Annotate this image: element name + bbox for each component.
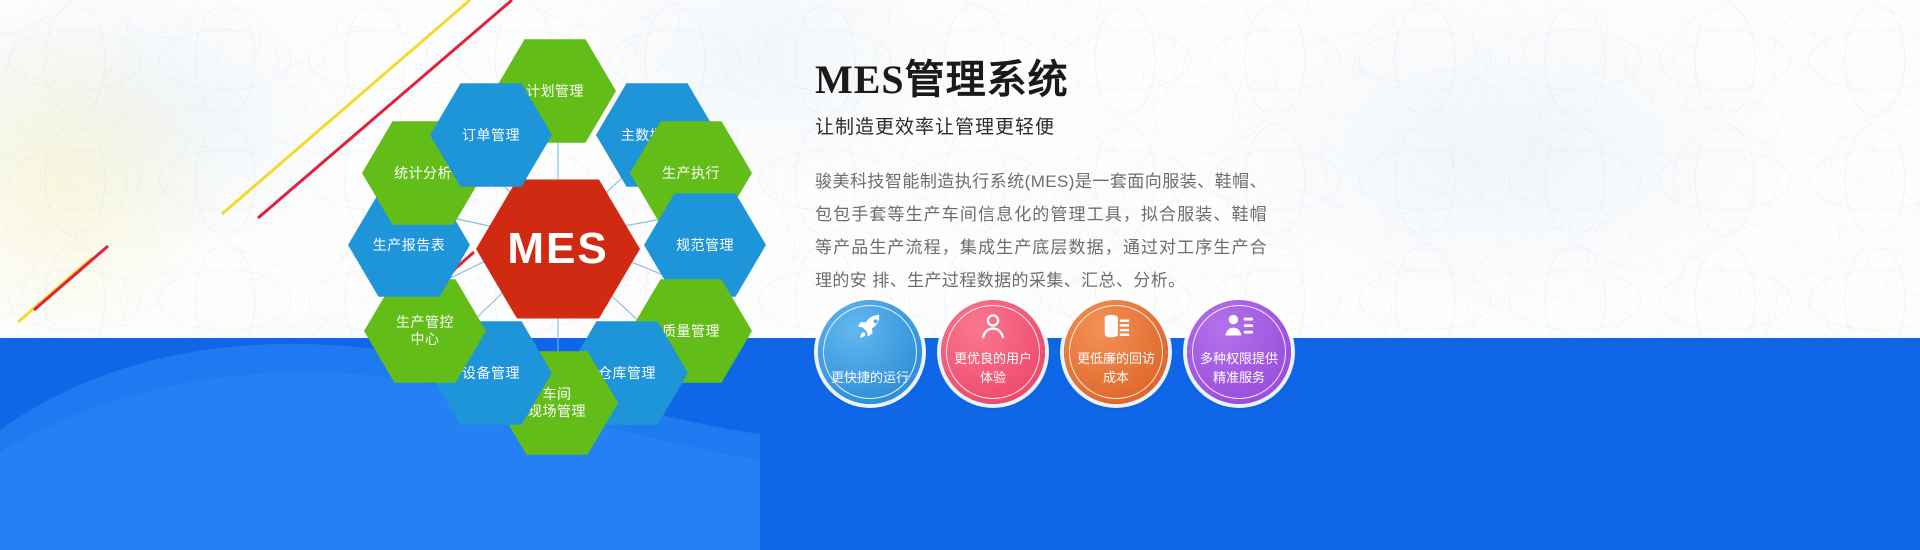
feature-badge-list: 更快捷的运行 更优良的用户体验 <box>818 300 1291 404</box>
user-icon <box>978 312 1008 342</box>
badge-label: 更优良的用户体验 <box>947 350 1039 388</box>
hero-text-column: MES管理系统 让制造更效率让管理更轻便 骏美科技智能制造执行系统(MES)是一… <box>815 58 1335 298</box>
mes-hexagon-diagram: MES 计划管理 主数据管理 生产执行 规范管理 质量管理 仓库管理 车间现场管… <box>330 18 800 438</box>
badge-label: 更低廉的回访成本 <box>1070 350 1162 388</box>
badge-multi-permission-service[interactable]: 多种权限提供精准服务 <box>1187 300 1291 404</box>
badge-faster-operation[interactable]: 更快捷的运行 <box>818 300 922 404</box>
hero-banner: MES 计划管理 主数据管理 生产执行 规范管理 质量管理 仓库管理 车间现场管… <box>0 0 1920 550</box>
user-list-icon <box>1224 312 1254 342</box>
badge-label: 更快捷的运行 <box>824 369 916 388</box>
badge-label: 多种权限提供精准服务 <box>1193 350 1285 388</box>
coins-icon <box>1101 312 1131 342</box>
page-subtitle: 让制造更效率让管理更轻便 <box>815 112 1335 139</box>
hero-description: 骏美科技智能制造执行系统(MES)是一套面向服装、鞋帽、包包手套等生产车间信息化… <box>815 165 1267 298</box>
page-title: MES管理系统 <box>815 58 1335 102</box>
rocket-icon <box>855 312 885 342</box>
badge-lower-revisit-cost[interactable]: 更低廉的回访成本 <box>1064 300 1168 404</box>
badge-better-user-experience[interactable]: 更优良的用户体验 <box>941 300 1045 404</box>
